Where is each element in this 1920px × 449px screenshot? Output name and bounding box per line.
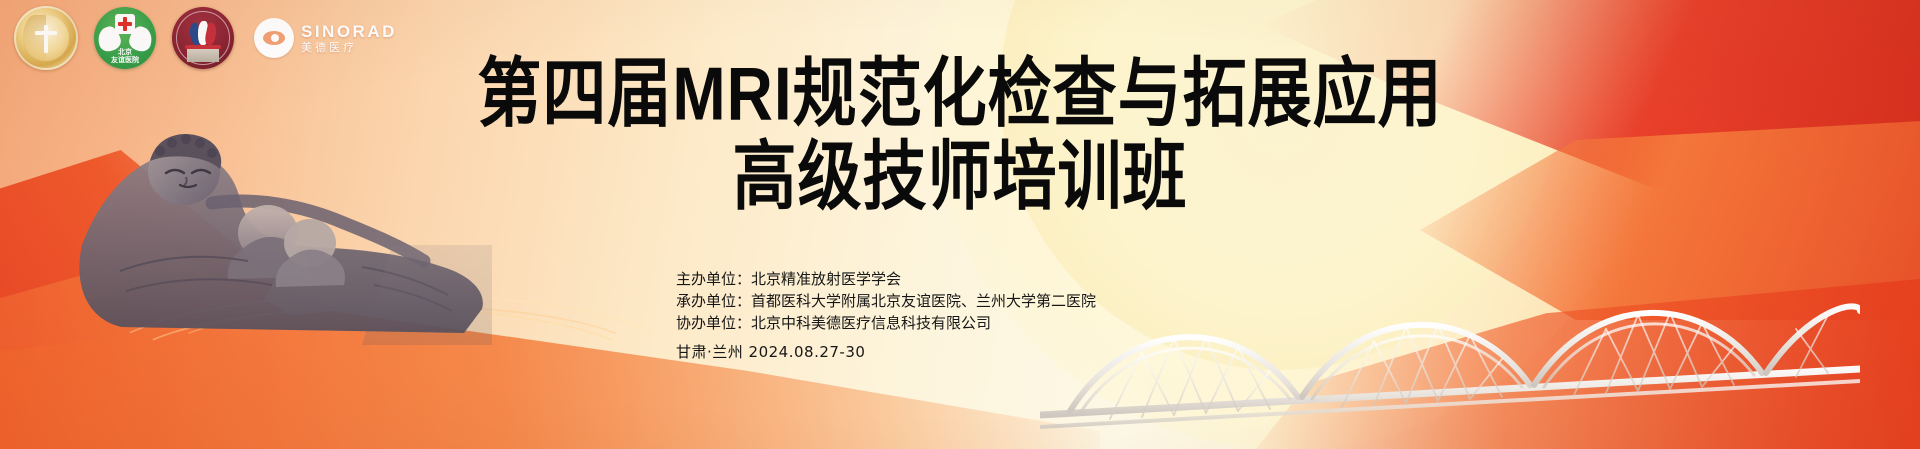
co-host-organization-row: 承办单位：首都医科大学附属北京友谊医院、兰州大学第二医院 <box>676 290 1096 312</box>
sinorad-name-cn: 美德医疗 <box>301 43 397 54</box>
sinorad-wordmark: SINORAD 美德医疗 <box>301 23 397 54</box>
sinorad-name-en: SINORAD <box>301 23 397 40</box>
hospital-logo-text: 北京 友谊医院 <box>94 49 156 65</box>
gold-medal-inner <box>23 15 69 61</box>
gold-cross-icon <box>33 23 59 53</box>
venue-and-date: 甘肃·兰州 2024.08.27-30 <box>676 341 1096 363</box>
lanzhou-university-second-hospital-logo <box>172 7 234 69</box>
emblem-building-icon <box>187 48 219 62</box>
reclining-buddha-illustration <box>62 95 492 345</box>
conference-banner: 北京 友谊医院 SINORAD 美德医疗 第四届MRI规范化检查与拓展应用 高级… <box>0 0 1920 449</box>
gold-medal-logo <box>14 6 78 70</box>
hospital-logo-line2: 友谊医院 <box>94 57 156 65</box>
hospital-logo-line1: 北京 <box>94 49 156 57</box>
organizer-details: 主办单位：北京精准放射医学学会 承办单位：首都医科大学附属北京友谊医院、兰州大学… <box>676 268 1096 363</box>
sponsor-logo-row: 北京 友谊医院 SINORAD 美德医疗 <box>14 6 397 70</box>
emblem-ribbon-icon <box>188 21 218 47</box>
supporting-organization-row: 协办单位：北京中科美德医疗信息科技有限公司 <box>676 312 1096 334</box>
sinorad-logo: SINORAD 美德医疗 <box>254 18 397 58</box>
beijing-friendship-hospital-logo: 北京 友谊医院 <box>94 7 156 69</box>
host-organization-row: 主办单位：北京精准放射医学学会 <box>676 268 1096 290</box>
sinorad-eye-icon <box>254 18 294 58</box>
zhongshan-bridge-illustration <box>1040 219 1860 449</box>
